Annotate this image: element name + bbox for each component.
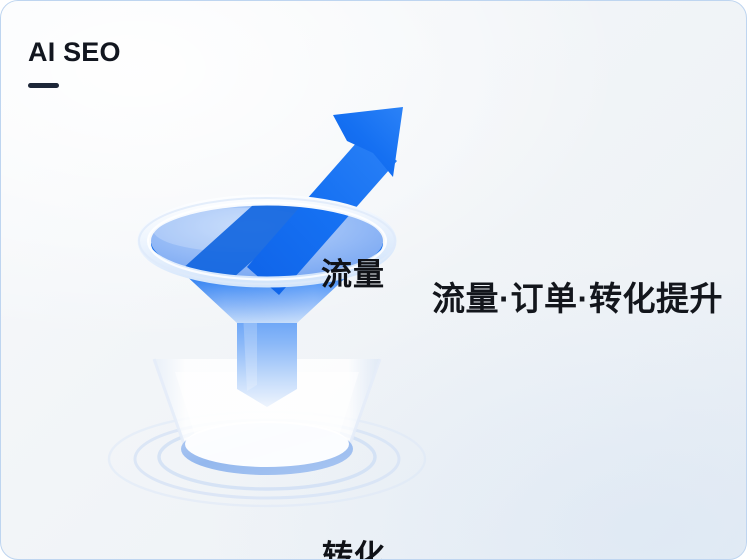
funnel-label-conversion: 转化	[322, 531, 386, 560]
page-title: AI SEO	[28, 39, 258, 66]
brand-underline-rule	[28, 83, 59, 88]
cup-base-ring-icon	[181, 421, 353, 475]
seo-conversion-funnel-illustration: 流量 转化	[97, 97, 437, 527]
funnel-illustration-svg	[97, 97, 437, 527]
brand-block: AI SEO	[28, 39, 258, 88]
funnel-stem-icon	[237, 309, 297, 407]
headline-text: 流量·订单·转化提升	[432, 279, 723, 319]
funnel-label-traffic: 流量	[321, 249, 385, 294]
poster-canvas: AI SEO 流量·订单·转化提升	[0, 0, 747, 560]
